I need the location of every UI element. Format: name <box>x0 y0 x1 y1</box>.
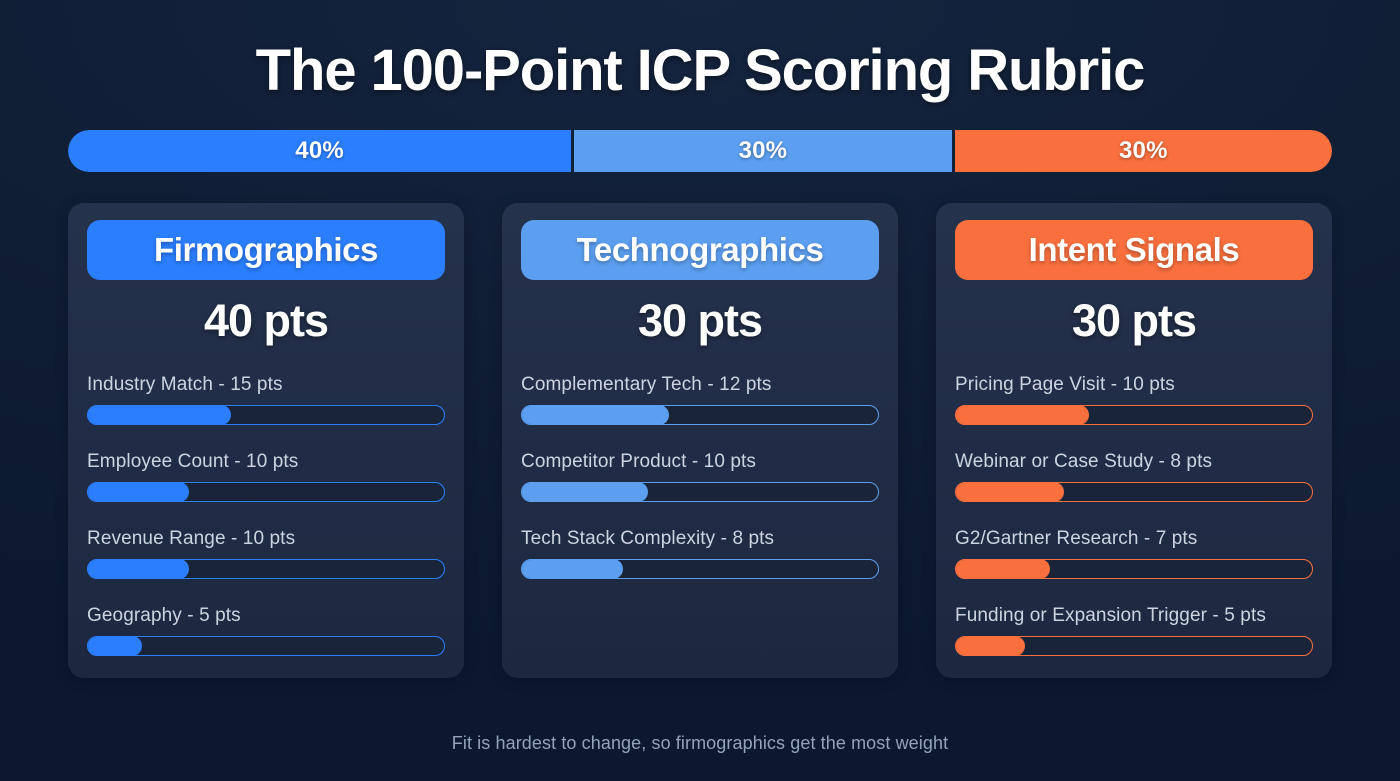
category-card-technographics: Technographics30 ptsComplementary Tech -… <box>502 203 898 678</box>
criteria-progress-fill <box>87 636 142 656</box>
criteria-list: Industry Match - 15 ptsEmployee Count - … <box>87 374 445 656</box>
criteria-progress-track <box>521 559 879 579</box>
criteria-progress-track <box>521 405 879 425</box>
criteria-progress-fill <box>955 405 1089 425</box>
category-title-pill: Technographics <box>521 220 879 280</box>
criteria-progress-track <box>87 636 445 656</box>
criteria-progress-fill <box>521 559 623 579</box>
weight-segment-label: 30% <box>739 137 788 165</box>
weight-distribution-bar: 40%30%30% <box>68 130 1332 172</box>
criteria-progress-track <box>521 482 879 502</box>
weight-segment-label: 30% <box>1119 137 1168 165</box>
criteria-progress-fill <box>955 482 1064 502</box>
criteria-list: Pricing Page Visit - 10 ptsWebinar or Ca… <box>955 374 1313 656</box>
criteria-progress-track <box>955 405 1313 425</box>
category-cards: Firmographics40 ptsIndustry Match - 15 p… <box>68 203 1332 678</box>
criteria-row: Complementary Tech - 12 pts <box>521 374 879 425</box>
criteria-label: Complementary Tech - 12 pts <box>521 374 879 396</box>
criteria-label: Employee Count - 10 pts <box>87 451 445 473</box>
criteria-label: Funding or Expansion Trigger - 5 pts <box>955 605 1313 627</box>
criteria-label: G2/Gartner Research - 7 pts <box>955 528 1313 550</box>
category-title-pill: Intent Signals <box>955 220 1313 280</box>
criteria-label: Geography - 5 pts <box>87 605 445 627</box>
criteria-row: Industry Match - 15 pts <box>87 374 445 425</box>
criteria-label: Competitor Product - 10 pts <box>521 451 879 473</box>
criteria-progress-track <box>87 482 445 502</box>
category-card-firmographics: Firmographics40 ptsIndustry Match - 15 p… <box>68 203 464 678</box>
page-title: The 100-Point ICP Scoring Rubric <box>68 0 1332 100</box>
criteria-label: Webinar or Case Study - 8 pts <box>955 451 1313 473</box>
criteria-label: Industry Match - 15 pts <box>87 374 445 396</box>
infographic-page: The 100-Point ICP Scoring Rubric 40%30%3… <box>0 0 1400 781</box>
criteria-row: Geography - 5 pts <box>87 605 445 656</box>
criteria-label: Revenue Range - 10 pts <box>87 528 445 550</box>
criteria-progress-fill <box>87 405 231 425</box>
criteria-row: Tech Stack Complexity - 8 pts <box>521 528 879 579</box>
footer-caption: Fit is hardest to change, so firmographi… <box>0 733 1400 754</box>
criteria-progress-track <box>955 559 1313 579</box>
criteria-row: Competitor Product - 10 pts <box>521 451 879 502</box>
criteria-progress-fill <box>87 482 189 502</box>
category-points: 40 pts <box>87 295 445 347</box>
criteria-progress-fill <box>87 559 189 579</box>
category-card-intent-signals: Intent Signals30 ptsPricing Page Visit -… <box>936 203 1332 678</box>
criteria-row: Webinar or Case Study - 8 pts <box>955 451 1313 502</box>
criteria-progress-fill <box>521 482 648 502</box>
criteria-progress-track <box>955 482 1313 502</box>
criteria-row: Revenue Range - 10 pts <box>87 528 445 579</box>
criteria-list: Complementary Tech - 12 ptsCompetitor Pr… <box>521 374 879 579</box>
category-points: 30 pts <box>955 295 1313 347</box>
criteria-progress-track <box>955 636 1313 656</box>
criteria-progress-fill <box>955 559 1050 579</box>
criteria-label: Tech Stack Complexity - 8 pts <box>521 528 879 550</box>
criteria-label: Pricing Page Visit - 10 pts <box>955 374 1313 396</box>
criteria-progress-fill <box>955 636 1025 656</box>
criteria-progress-track <box>87 405 445 425</box>
weight-segment-3: 30% <box>955 130 1332 172</box>
criteria-progress-track <box>87 559 445 579</box>
criteria-row: G2/Gartner Research - 7 pts <box>955 528 1313 579</box>
criteria-row: Pricing Page Visit - 10 pts <box>955 374 1313 425</box>
weight-segment-2: 30% <box>574 130 951 172</box>
weight-segment-label: 40% <box>295 137 344 165</box>
category-points: 30 pts <box>521 295 879 347</box>
weight-segment-1: 40% <box>68 130 571 172</box>
criteria-row: Employee Count - 10 pts <box>87 451 445 502</box>
category-title-pill: Firmographics <box>87 220 445 280</box>
criteria-row: Funding or Expansion Trigger - 5 pts <box>955 605 1313 656</box>
criteria-progress-fill <box>521 405 669 425</box>
